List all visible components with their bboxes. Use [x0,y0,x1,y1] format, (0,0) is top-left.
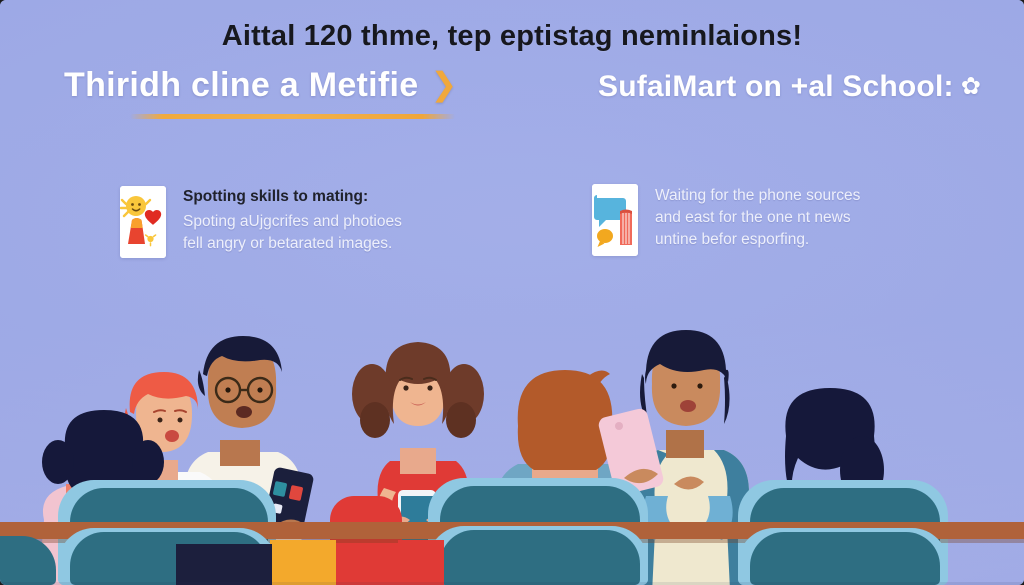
chair-front-3 [750,532,940,585]
feature-block-left: Spotting skills to mating: Spoting aUjgc… [120,186,450,258]
subhead-left-text: Thiridh cline a Metifie [64,66,419,104]
subhead-left: Thiridh cline a Metifie❯ [64,66,458,105]
feature-left-line-1: Spoting aUjgcrifes and photioes [183,211,402,233]
flower-icon: ✿ [961,72,981,101]
feature-right-line-2: and east for the one nt news [655,207,860,229]
subhead-right: SufaiMart on +al School:✿ [598,70,981,104]
headline: Aittal 120 thme, tep eptistag neminlaion… [0,20,1024,53]
classroom-scene [0,300,1024,585]
subhead-left-underline [130,114,455,119]
feature-block-right: Waiting for the phone sources and east f… [592,184,932,256]
feature-right-text: Waiting for the phone sources and east f… [655,184,860,251]
seat-sliver-red [398,540,444,585]
feature-right-line-3: untine befor esporfing. [655,229,860,251]
feature-right-line-1: Waiting for the phone sources [655,185,860,207]
illustration-canvas: Aittal 120 thme, tep eptistag neminlaion… [0,0,1024,585]
feature-left-title: Spotting skills to mating: [183,187,402,208]
chat-bubble-document-card-icon [592,184,638,256]
seat-sliver-yellow [270,540,336,585]
seat-sliver-navy [176,544,272,585]
feature-left-text: Spotting skills to mating: Spoting aUjgc… [183,186,402,255]
chair-front-2 [440,530,640,585]
subhead-right-text: SufaiMart on +al School: [598,70,954,103]
smiley-heart-card-icon [120,186,166,258]
chevron-right-icon: ❯ [431,65,458,103]
feature-left-line-2: fell angry or betarated images. [183,233,402,255]
